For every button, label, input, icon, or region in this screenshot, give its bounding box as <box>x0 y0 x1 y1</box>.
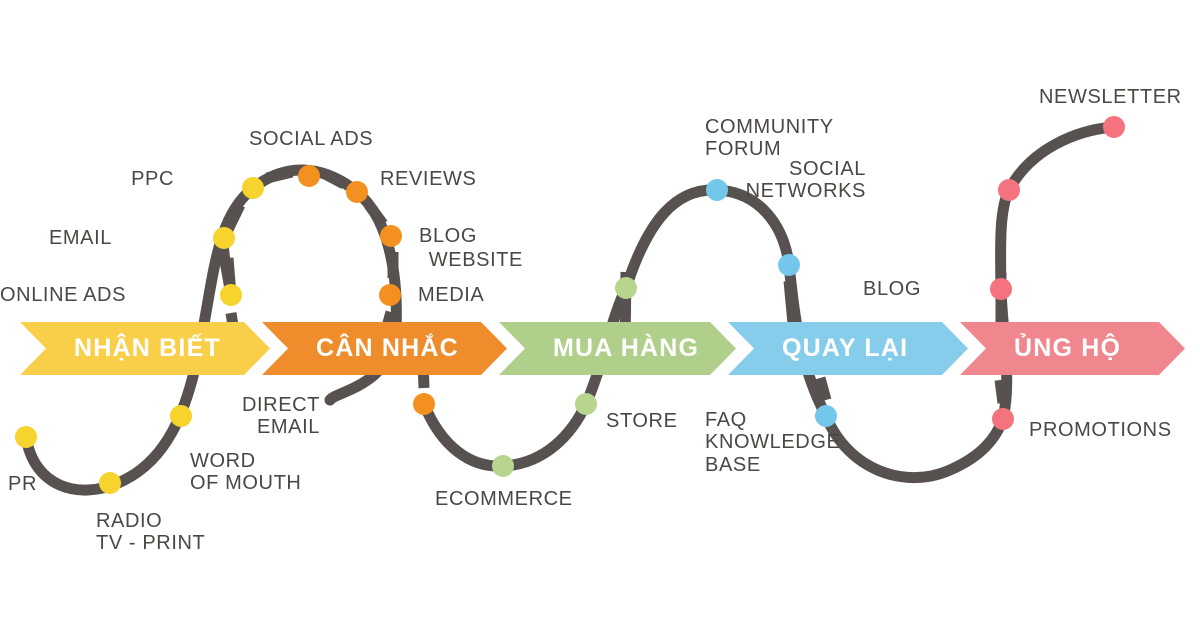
track-segment-5 <box>1001 127 1114 289</box>
touchpoint-label-radio-tv-print: RADIO TV - PRINT <box>96 510 205 555</box>
track-dash-4 <box>369 205 383 224</box>
touchpoint-dot-ecommerce[interactable] <box>492 455 514 477</box>
stage-label-advocacy: ỦNG HỘ <box>1014 334 1121 363</box>
track-segment-2 <box>424 288 626 466</box>
track-dash-12 <box>1000 380 1003 403</box>
touchpoint-dot-blog-consider[interactable] <box>380 225 402 247</box>
touchpoint-dot-email[interactable] <box>213 227 235 249</box>
journey-diagram: NHẬN BIẾTCÂN NHẮCMUA HÀNGQUAY LẠIỦNG HỘ … <box>0 0 1200 636</box>
touchpoint-label-pr: PR <box>8 473 37 495</box>
touchpoint-dot-newsletter[interactable] <box>1103 116 1125 138</box>
touchpoint-label-community-forum: COMMUNITY FORUM <box>705 116 834 161</box>
touchpoint-dot-loyalty-dot[interactable] <box>778 254 800 276</box>
touchpoint-label-faq-knowledge: FAQ KNOWLEDGE BASE <box>705 409 840 476</box>
touchpoint-dot-blog-advocacy[interactable] <box>990 278 1012 300</box>
touchpoint-label-social-networks: SOCIAL NETWORKS <box>0 158 866 203</box>
touchpoint-label-website: WEBSITE <box>0 249 523 271</box>
touchpoint-label-ecommerce: ECOMMERCE <box>435 488 573 510</box>
touchpoint-dot-store[interactable] <box>575 393 597 415</box>
touchpoint-label-promotions: PROMOTIONS <box>1029 419 1172 441</box>
touchpoint-label-newsletter: NEWSLETTER <box>1039 86 1182 108</box>
touchpoint-dot-radio-tv-print[interactable] <box>99 472 121 494</box>
touchpoint-label-social-ads: SOCIAL ADS <box>249 128 373 150</box>
track-dash-11 <box>820 378 826 400</box>
stage-label-retention: QUAY LẠI <box>782 334 908 363</box>
stage-label-purchase: MUA HÀNG <box>553 334 699 363</box>
touchpoint-label-direct-email: DIRECT EMAIL <box>0 394 320 439</box>
touchpoint-label-blog-consider: BLOG <box>419 225 477 247</box>
touchpoint-label-blog-advocacy: BLOG <box>0 278 921 300</box>
touchpoint-label-word-of-mouth: WORD OF MOUTH <box>190 450 301 495</box>
touchpoint-label-store: STORE <box>606 410 678 432</box>
stage-label-awareness: NHẬN BIẾT <box>74 334 221 363</box>
touchpoint-dot-social-networks[interactable] <box>998 179 1020 201</box>
touchpoint-dot-direct-email[interactable] <box>413 393 435 415</box>
stage-label-consideration: CÂN NHẮC <box>316 334 459 363</box>
touchpoint-dot-promotions[interactable] <box>992 408 1014 430</box>
touchpoint-label-email: EMAIL <box>0 227 112 249</box>
track-segment-4 <box>826 289 1007 478</box>
